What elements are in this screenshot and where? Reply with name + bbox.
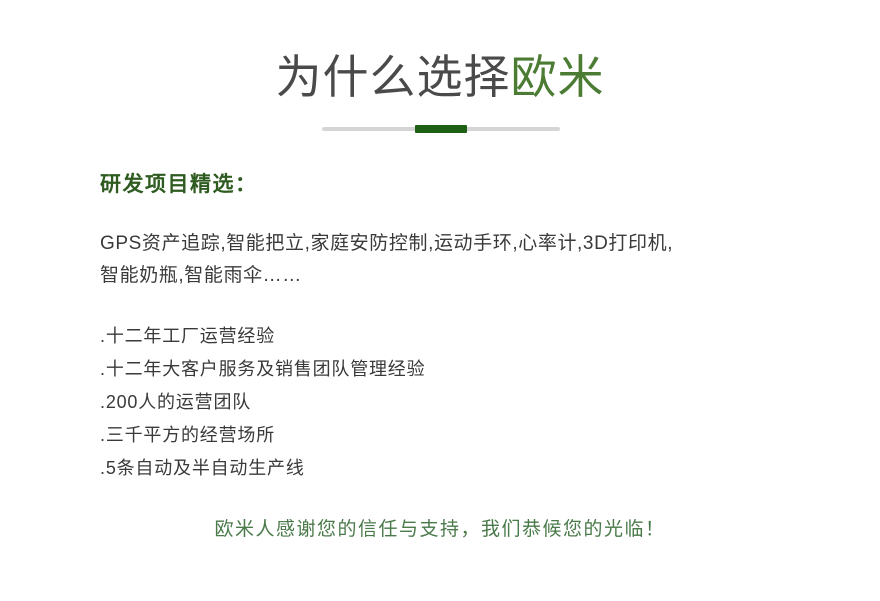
- title-divider: [322, 127, 560, 131]
- list-item-label: 十二年工厂运营经验: [106, 326, 275, 346]
- page-title-accent: 欧米: [511, 51, 605, 103]
- promo-page: 为什么选择欧米 研发项目精选： GPS资产追踪,智能把立,家庭安防控制,运动手环…: [0, 0, 880, 601]
- list-item-label: 200人的运营团队: [106, 392, 251, 412]
- list-item: .5条自动及半自动生产线: [100, 452, 740, 485]
- intro-line-2: 智能奶瓶,智能雨伞……: [100, 260, 800, 292]
- divider-marker: [415, 125, 467, 133]
- page-title-block: 为什么选择欧米: [0, 48, 880, 106]
- section-heading: 研发项目精选：: [100, 170, 258, 200]
- highlights-list: .十二年工厂运营经验 .十二年大客户服务及销售团队管理经验 .200人的运营团队…: [100, 320, 740, 485]
- page-title-plain: 为什么选择: [276, 51, 511, 103]
- list-item: .十二年工厂运营经验: [100, 320, 740, 353]
- list-item: .三千平方的经营场所: [100, 419, 740, 452]
- closing-message: 欧米人感谢您的信任与支持，我们恭候您的光临！: [0, 514, 880, 546]
- list-item-label: 三千平方的经营场所: [106, 425, 275, 445]
- intro-line-1: GPS资产追踪,智能把立,家庭安防控制,运动手环,心率计,3D打印机,: [100, 228, 800, 260]
- intro-paragraph: GPS资产追踪,智能把立,家庭安防控制,运动手环,心率计,3D打印机, 智能奶瓶…: [100, 228, 800, 292]
- list-item: .十二年大客户服务及销售团队管理经验: [100, 353, 740, 386]
- list-item-label: 5条自动及半自动生产线: [106, 458, 305, 478]
- list-item: .200人的运营团队: [100, 386, 740, 419]
- page-title: 为什么选择欧米: [0, 48, 880, 106]
- list-item-label: 十二年大客户服务及销售团队管理经验: [106, 359, 426, 379]
